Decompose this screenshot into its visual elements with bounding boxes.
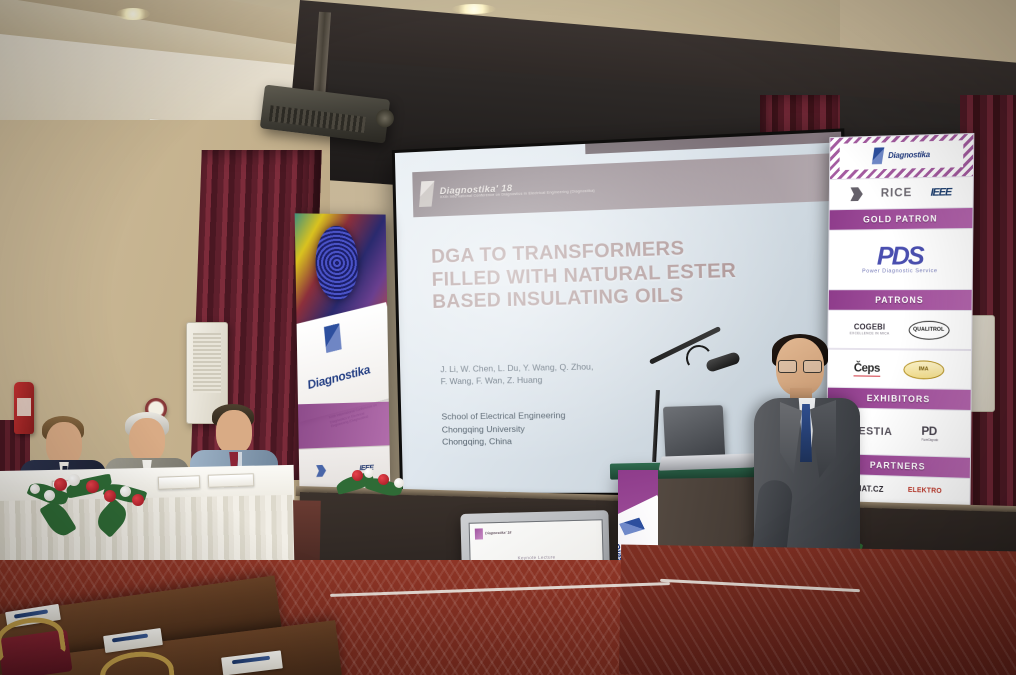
diagnostika-logo-icon: [418, 181, 435, 208]
sponsor-top-logos-row: RICE IEEE: [830, 176, 973, 210]
pd-mark-icon: [316, 465, 326, 477]
extinguisher-label: [17, 398, 31, 416]
sponsor-gold-patron-row: PDS Power Diagnostic Service: [829, 228, 973, 290]
sponsor-logo-cogebi-tagline: EXCELLENCE IN MICA: [850, 332, 890, 336]
suit-lapel-right: [810, 400, 836, 478]
monitor-slide-header: Diagnostika' 18: [475, 524, 597, 539]
sponsor-header-brand: Diagnostika: [888, 150, 930, 160]
slide-affiliation: School of Electrical Engineering Chongqi…: [441, 406, 799, 448]
sponsor-logo-pds: PDS: [877, 244, 923, 267]
name-card: [158, 475, 200, 489]
diagnostika-logo-icon: [475, 528, 483, 539]
glasses-lens-right: [803, 360, 822, 373]
glasses-lens-left: [778, 360, 797, 373]
rollup-purple-band: [298, 402, 390, 450]
glasses-icon: [778, 360, 822, 371]
sponsor-logo-cogebi: COGEBI EXCELLENCE IN MICA: [850, 323, 890, 336]
pd-mark-icon: [850, 187, 862, 201]
sponsor-band-patrons: PATRONS: [829, 290, 972, 310]
head: [216, 410, 252, 454]
head: [129, 418, 165, 462]
sponsor-logo-rice: RICE: [881, 187, 913, 201]
slide-header-text: Diagnostika' 18 XXth International Confe…: [440, 180, 595, 200]
sponsor-logo-pds-tagline: Power Diagnostic Service: [862, 268, 937, 274]
ieee-logo-icon: IEEE: [931, 186, 952, 198]
sponsor-logo-ima: IMA: [903, 360, 944, 379]
transformer-coil-photo: [315, 225, 358, 300]
slide-authors: J. Li, W. Chen, L. Du, Y. Wang, Q. Zhou,…: [440, 356, 798, 388]
monitor-header-brand: Diagnostika' 18: [485, 531, 511, 536]
sponsor-logo-power-diagnostix-tagline: Power Diagnostix: [921, 438, 937, 442]
ceiling-strip-light: [452, 4, 496, 14]
rollup-banner-left: Diagnostika XXth International Conferenc…: [295, 213, 391, 494]
slide-affiliation-line-3: Chongqing, China: [442, 433, 800, 449]
sponsor-logo-power-diagnostix: PD Power Diagnostix: [921, 424, 938, 442]
suit-lapel-left: [780, 402, 802, 474]
conference-photo-scene: September 4 - 7 2018 IEEE Diagnostika' 1…: [0, 0, 1016, 675]
sponsor-logo-estia: ESTIA: [859, 425, 893, 438]
sponsor-banner-header: Diagnostika: [830, 134, 973, 179]
sponsor-band-gold-patron: GOLD PATRON: [829, 208, 972, 230]
slide-title: DGA TO TRANSFORMERS FILLED WITH NATURAL …: [431, 234, 817, 315]
carpet-right: [619, 545, 1016, 675]
diagnostika-logo-icon: [872, 147, 885, 164]
speaker-grille: [193, 333, 221, 393]
slide-header-bar: Diagnostika' 18 XXth International Confe…: [412, 154, 833, 217]
sponsor-logo-elektro: ELEKTRO: [908, 487, 942, 496]
sponsor-logo-qualitrol: QUALITROL: [908, 320, 949, 339]
name-card: [208, 473, 254, 488]
ceiling-downlight: [116, 8, 150, 20]
projector-vent: [269, 105, 366, 133]
